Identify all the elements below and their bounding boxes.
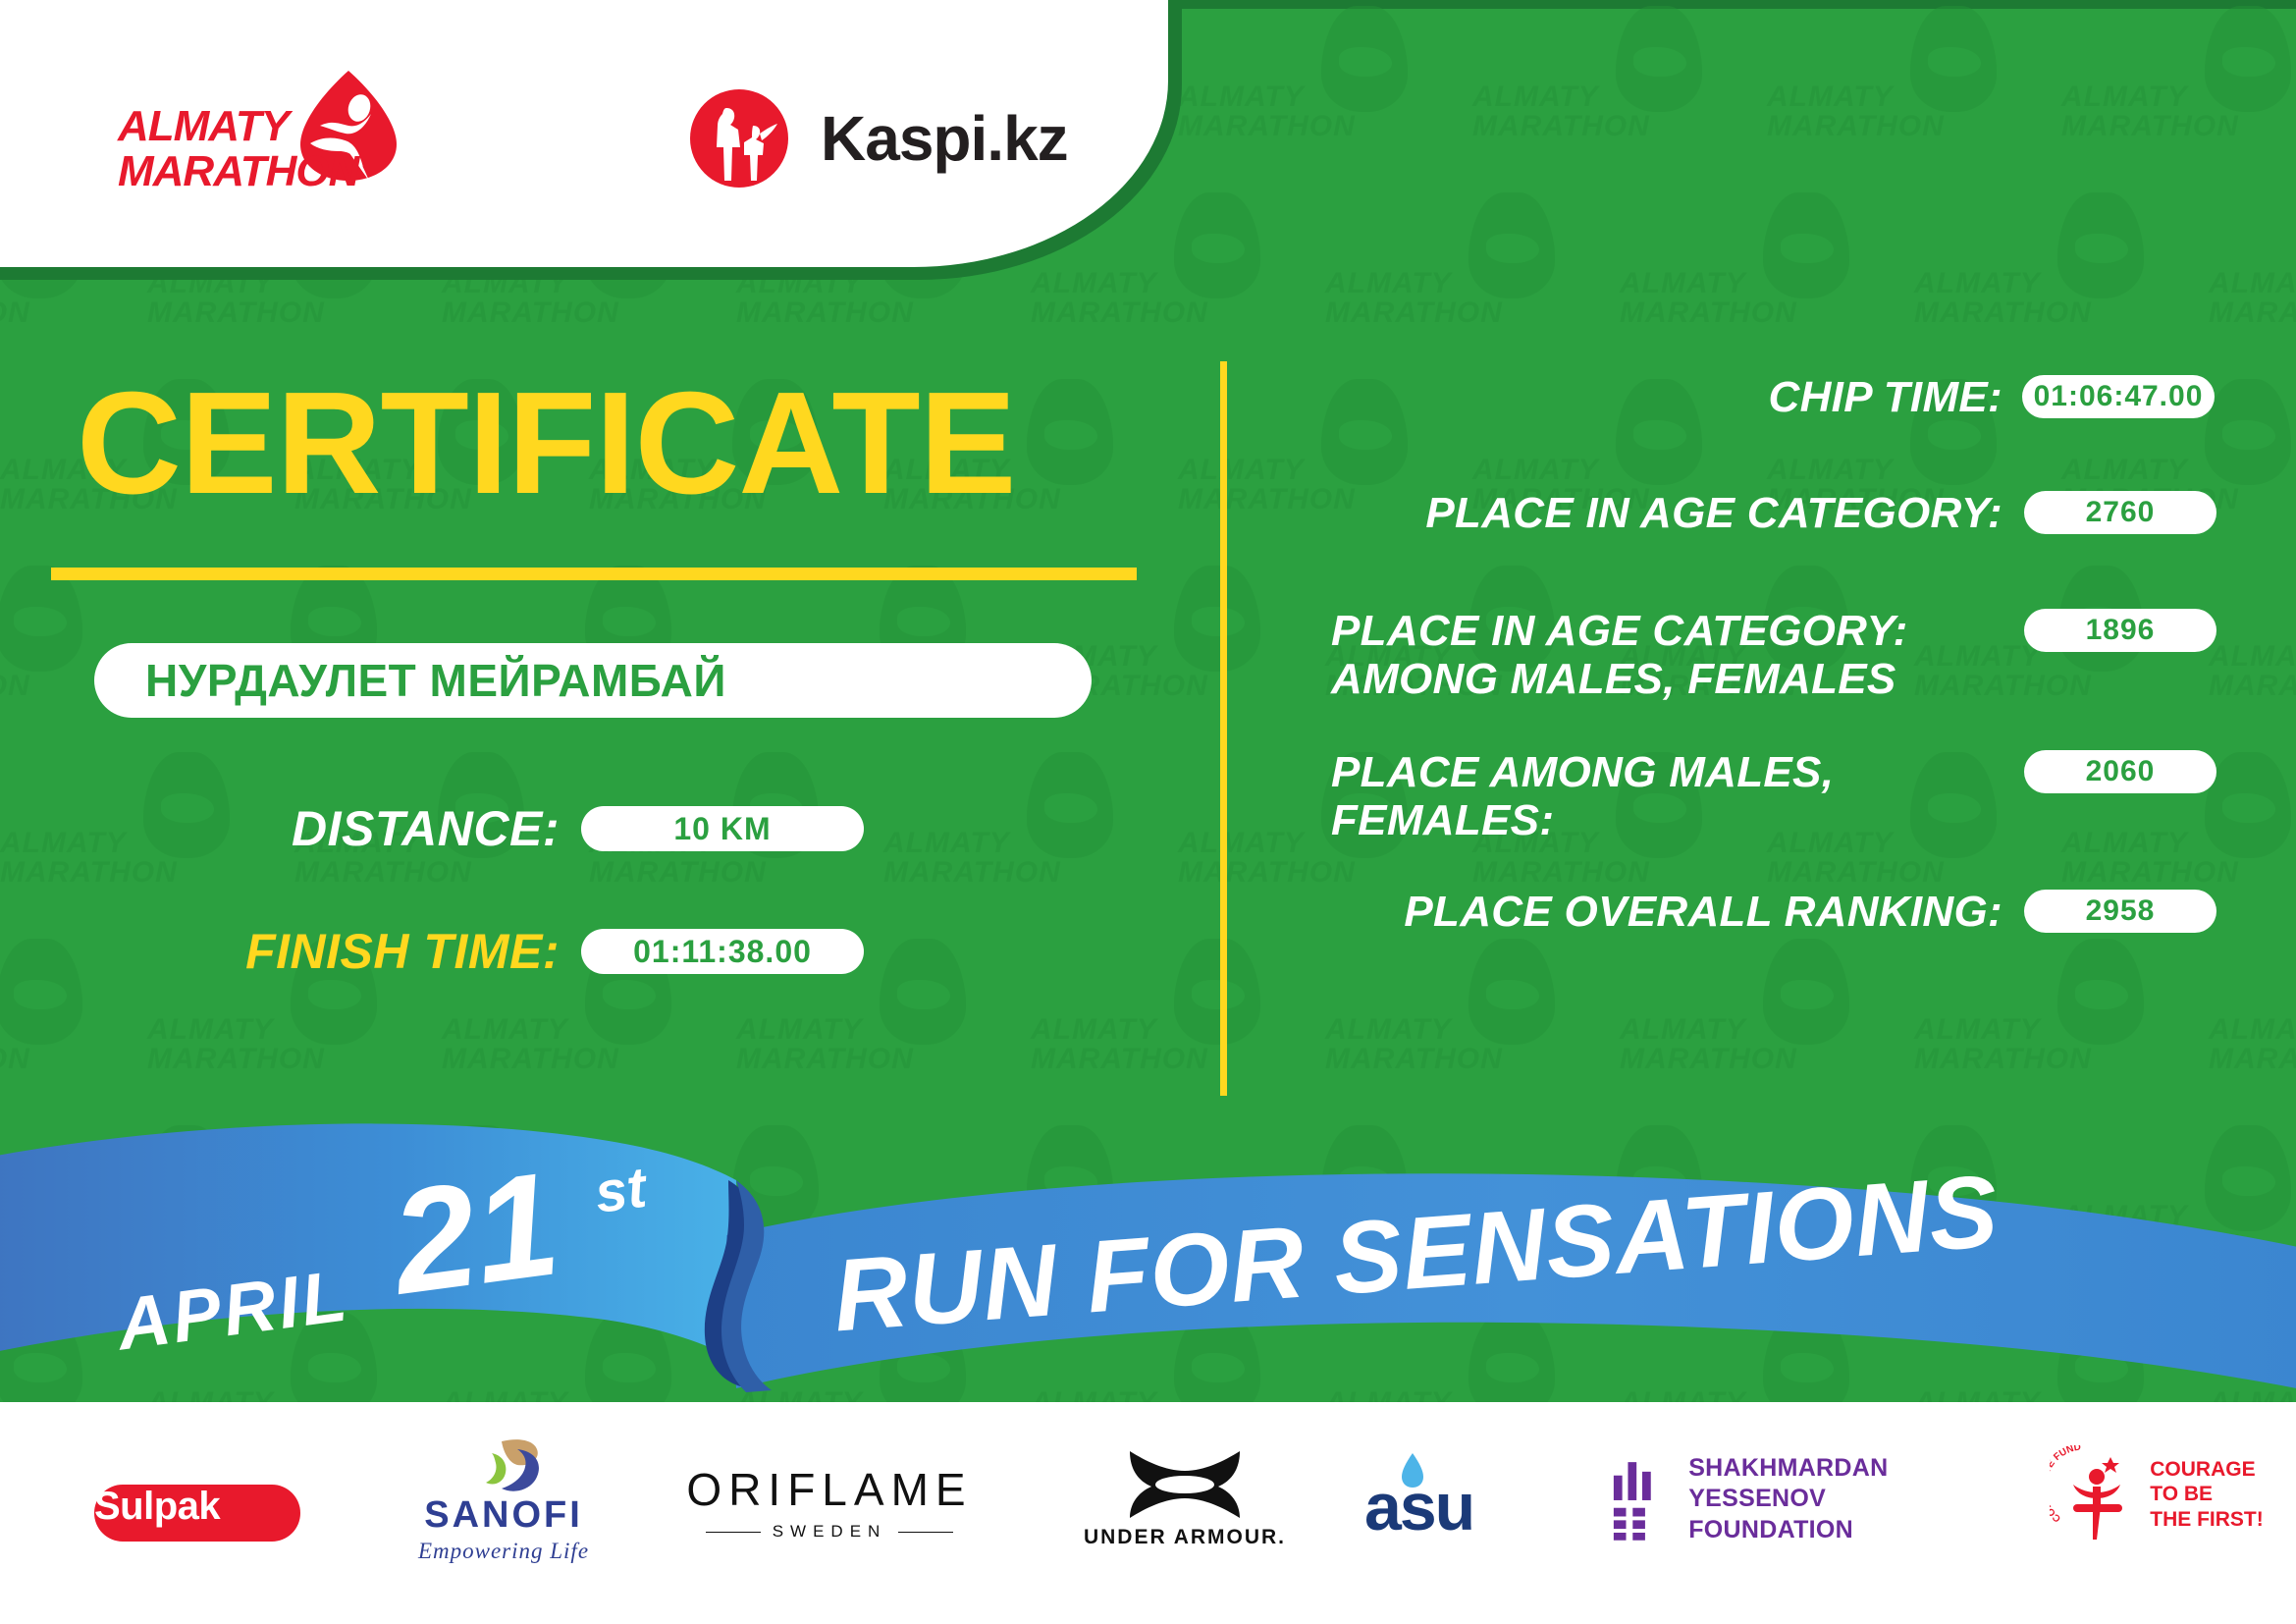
sanofi-logo-text: SANOFI [424, 1494, 583, 1537]
stat-row: PLACE IN AGE CATEGORY:2760 [1276, 489, 2218, 537]
stat-row: CHIP TIME:01:06:47.00 [1276, 373, 2218, 421]
svg-text:CORPORATE FUND: CORPORATE FUND [2050, 1445, 2082, 1524]
stat-label-line: CHIP TIME: [1276, 373, 2002, 421]
finish-time-value: 01:11:38.00 [581, 929, 864, 974]
courage-line3: THE FIRST! [2150, 1507, 2264, 1533]
finish-time-row: FINISH TIME: 01:11:38.00 [196, 923, 864, 980]
title-underline [51, 568, 1137, 580]
distance-label: DISTANCE: [265, 800, 560, 857]
stat-label: PLACE OVERALL RANKING: [1276, 888, 2002, 936]
asu-droplet-icon [1400, 1453, 1425, 1489]
sponsor-oriflame: ORIFLAME SWEDEN [687, 1463, 972, 1542]
almaty-marathon-logo-line1: ALMATY [118, 102, 289, 151]
yessenov-line1: SHAKHMARDAN YESSENOV [1688, 1453, 2022, 1515]
sponsor-bar: Sulpak SANOFI Empowering Life ORIFLAME S… [0, 1402, 2296, 1624]
sanofi-tagline: Empowering Life [418, 1539, 589, 1564]
oriflame-subtitle: SWEDEN [706, 1522, 954, 1542]
kaspi-logo: Kaspi.kz [687, 84, 1080, 192]
stat-value: 01:06:47.00 [2022, 375, 2215, 418]
under-armour-icon [1122, 1447, 1248, 1520]
stat-label-line: FEMALES: [1331, 796, 2002, 844]
stat-label-line: AMONG MALES, FEMALES [1331, 655, 2002, 703]
yessenov-text-block: SHAKHMARDAN YESSENOV FOUNDATION [1688, 1453, 2022, 1545]
under-armour-logo-text: UNDER ARMOUR. [1084, 1526, 1286, 1549]
oriflame-rule-right [898, 1532, 953, 1533]
stat-row: PLACE IN AGE CATEGORY:AMONG MALES, FEMAL… [1276, 607, 2218, 704]
distance-row: DISTANCE: 10 KM [265, 800, 864, 857]
oriflame-rule-left [706, 1532, 761, 1533]
finish-time-label: FINISH TIME: [196, 923, 560, 980]
almaty-marathon-logo-line2: MARATHON [118, 147, 358, 196]
stat-row: PLACE AMONG MALES,FEMALES:2060 [1276, 748, 2218, 845]
kaspi-logo-text: Kaspi.kz [821, 102, 1068, 175]
stat-label: CHIP TIME: [1276, 373, 2002, 421]
courage-line1: COURAGE [2150, 1457, 2264, 1483]
stat-value: 1896 [2024, 609, 2216, 652]
stat-label-line: PLACE IN AGE CATEGORY: [1276, 489, 2002, 537]
sponsor-under-armour: UNDER ARMOUR. [1082, 1447, 1288, 1549]
stat-label-line: PLACE AMONG MALES, [1331, 748, 2002, 796]
sanofi-mark-icon [458, 1437, 549, 1494]
stat-row: PLACE OVERALL RANKING:2958 [1276, 888, 2218, 936]
stat-label-line: PLACE IN AGE CATEGORY: [1331, 607, 2002, 655]
kaspi-people-icon [687, 86, 791, 190]
sulpak-logo-text: Sulpak [94, 1485, 300, 1542]
sponsor-sanofi: SANOFI Empowering Life [391, 1437, 616, 1564]
stat-value: 2060 [2024, 750, 2216, 793]
stat-label: PLACE IN AGE CATEGORY: [1276, 489, 2002, 537]
vertical-divider [1220, 361, 1227, 1096]
sponsor-sulpak: Sulpak [94, 1485, 300, 1542]
stat-label-line: PLACE OVERALL RANKING: [1276, 888, 2002, 936]
stat-label: PLACE IN AGE CATEGORY:AMONG MALES, FEMAL… [1276, 607, 2002, 704]
participant-name-value: НУРДАУЛЕТ МЕЙРАМБАЙ [145, 654, 726, 707]
sponsor-courage-fund: CORPORATE FUND COURAGE TO BE THE FIRST! [2044, 1445, 2269, 1543]
stat-value: 2760 [2024, 491, 2216, 534]
event-day-suffix: st [591, 1155, 650, 1226]
courage-fund-icon: CORPORATE FUND [2050, 1445, 2140, 1543]
almaty-marathon-logo: ALMATY MARATHON [118, 65, 442, 192]
sponsor-yessenov-foundation: SHAKHMARDAN YESSENOV FOUNDATION [1610, 1453, 2022, 1545]
courage-line2: TO BE [2150, 1482, 2264, 1507]
participant-name-field: НУРДАУЛЕТ МЕЙРАМБАЙ [94, 643, 1092, 718]
oriflame-subtitle-text: SWEDEN [773, 1522, 887, 1542]
page-title: CERTIFICATE [77, 371, 1015, 516]
event-day: 21 [385, 1149, 566, 1316]
yessenov-bars-icon [1610, 1457, 1669, 1542]
distance-value: 10 KM [581, 806, 864, 851]
stat-label: PLACE AMONG MALES,FEMALES: [1276, 748, 2002, 845]
oriflame-logo-text: ORIFLAME [686, 1463, 972, 1516]
sponsor-asu: asu [1364, 1469, 1473, 1545]
stat-value: 2958 [2024, 890, 2216, 933]
yessenov-line2: FOUNDATION [1688, 1515, 2022, 1545]
certificate-page: ALMATYMARATHONALMATYMARATHONALMATYMARATH… [0, 0, 2296, 1624]
courage-text-block: COURAGE TO BE THE FIRST! [2150, 1457, 2264, 1533]
